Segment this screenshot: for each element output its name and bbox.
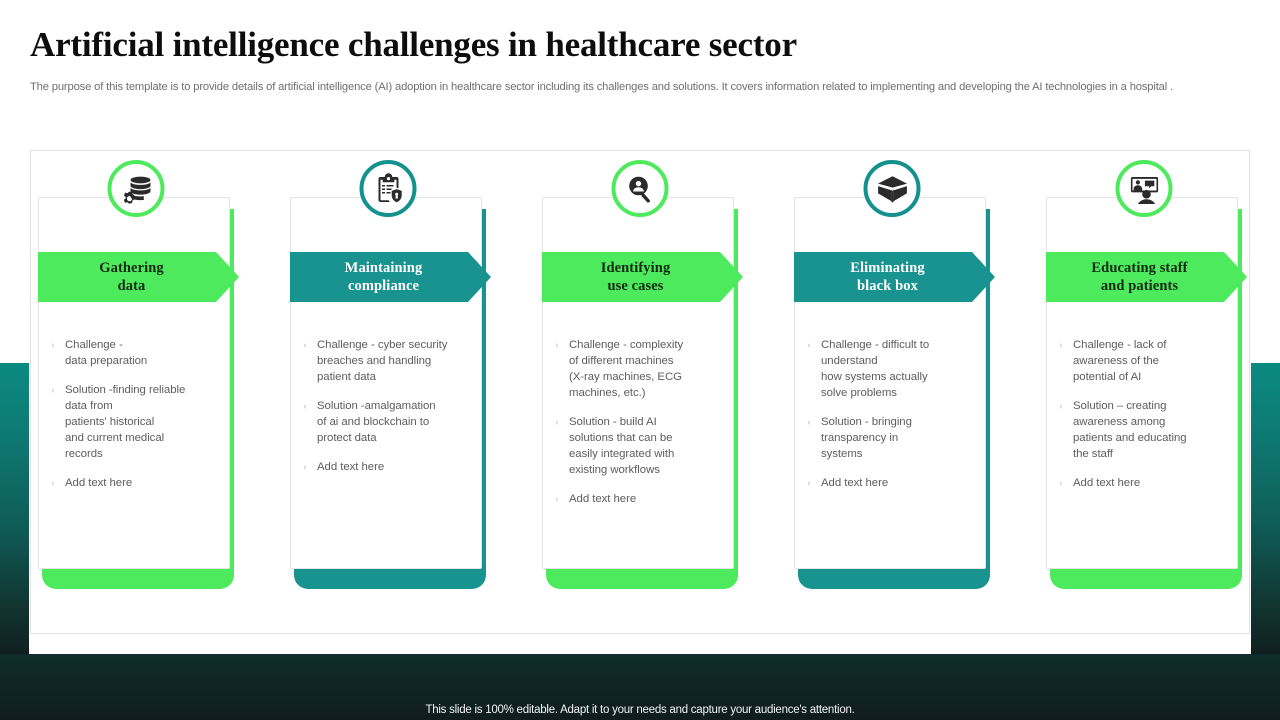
chevron-right-icon: › (51, 475, 65, 491)
chevron-right-icon: › (807, 414, 821, 430)
list-item-text: Solution - build AI solutions that can b… (569, 414, 727, 478)
presentation-training-icon (1116, 160, 1173, 217)
chevron-right-icon: › (303, 337, 317, 353)
chevron-right-icon: › (303, 398, 317, 414)
list-item: ›Challenge - lack of awareness of the po… (1059, 337, 1231, 385)
chevron-right-icon: › (555, 337, 569, 353)
list-item-text: Challenge - lack of awareness of the pot… (1073, 337, 1231, 385)
list-item-text: Solution – creating awareness among pati… (1073, 398, 1231, 462)
list-item-text: Challenge - cyber security breaches and … (317, 337, 475, 385)
chevron-right-icon: › (51, 337, 65, 353)
list-item-text: Solution -amalgamation of ai and blockch… (317, 398, 475, 446)
chevron-right-icon: › (51, 382, 65, 398)
chevron-right-icon: › (1059, 475, 1073, 491)
list-item: ›Add text here (807, 475, 979, 491)
database-gear-icon (108, 160, 165, 217)
challenge-card[interactable]: Educating staff and patients›Challenge -… (1046, 197, 1242, 637)
list-item: ›Challenge - data preparation (51, 337, 223, 369)
magnifier-person-icon (612, 160, 669, 217)
card-bullet-list: ›Challenge - data preparation›Solution -… (51, 337, 223, 504)
list-item-text: Challenge - difficult to understand how … (821, 337, 979, 401)
challenge-card[interactable]: Maintaining compliance›Challenge - cyber… (290, 197, 486, 637)
card-title-banner: Eliminating black box (794, 252, 995, 302)
card-title-banner: Maintaining compliance (290, 252, 491, 302)
list-item-text: Challenge - complexity of different mach… (569, 337, 727, 401)
card-bullet-list: ›Challenge - cyber security breaches and… (303, 337, 475, 488)
list-item-text: Solution -finding reliable data from pat… (65, 382, 223, 462)
card-title-banner: Gathering data (38, 252, 239, 302)
list-item: ›Add text here (303, 459, 475, 475)
list-item: ›Challenge - cyber security breaches and… (303, 337, 475, 385)
list-item-text: Add text here (65, 475, 223, 491)
card-title: Gathering data (99, 259, 178, 295)
list-item-text: Add text here (569, 491, 727, 507)
card-title: Eliminating black box (850, 259, 938, 295)
page-title: Artificial intelligence challenges in he… (30, 24, 1250, 66)
list-item-text: Challenge - data preparation (65, 337, 223, 369)
list-item: ›Solution - bringing transparency in sys… (807, 414, 979, 462)
list-item: ›Solution - build AI solutions that can … (555, 414, 727, 478)
footer-note: This slide is 100% editable. Adapt it to… (0, 704, 1280, 716)
list-item: ›Add text here (555, 491, 727, 507)
challenge-card[interactable]: Eliminating black box›Challenge - diffic… (794, 197, 990, 637)
list-item: ›Solution -amalgamation of ai and blockc… (303, 398, 475, 446)
list-item: ›Challenge - difficult to understand how… (807, 337, 979, 401)
card-bullet-list: ›Challenge - complexity of different mac… (555, 337, 727, 520)
card-title-banner: Educating staff and patients (1046, 252, 1247, 302)
challenge-cards-row: Gathering data›Challenge - data preparat… (30, 150, 1250, 634)
card-bullet-list: ›Challenge - difficult to understand how… (807, 337, 979, 504)
list-item-text: Add text here (821, 475, 979, 491)
card-title-banner: Identifying use cases (542, 252, 743, 302)
chevron-right-icon: › (303, 459, 317, 475)
list-item-text: Add text here (317, 459, 475, 475)
chevron-right-icon: › (555, 491, 569, 507)
clipboard-shield-icon (360, 160, 417, 217)
chevron-right-icon: › (1059, 398, 1073, 414)
open-box-icon (864, 160, 921, 217)
header: Artificial intelligence challenges in he… (0, 0, 1280, 95)
list-item: ›Solution -finding reliable data from pa… (51, 382, 223, 462)
card-bullet-list: ›Challenge - lack of awareness of the po… (1059, 337, 1231, 504)
list-item: ›Add text here (1059, 475, 1231, 491)
card-title: Educating staff and patients (1091, 259, 1201, 295)
card-title: Maintaining compliance (345, 259, 437, 295)
card-title: Identifying use cases (601, 259, 685, 295)
list-item: ›Solution – creating awareness among pat… (1059, 398, 1231, 462)
chevron-right-icon: › (807, 475, 821, 491)
chevron-right-icon: › (555, 414, 569, 430)
page-subtitle: The purpose of this template is to provi… (30, 80, 1230, 95)
list-item: ›Add text here (51, 475, 223, 491)
challenge-card[interactable]: Gathering data›Challenge - data preparat… (38, 197, 234, 637)
chevron-right-icon: › (1059, 337, 1073, 353)
list-item-text: Add text here (1073, 475, 1231, 491)
list-item: ›Challenge - complexity of different mac… (555, 337, 727, 401)
chevron-right-icon: › (807, 337, 821, 353)
list-item-text: Solution - bringing transparency in syst… (821, 414, 979, 462)
challenge-card[interactable]: Identifying use cases›Challenge - comple… (542, 197, 738, 637)
